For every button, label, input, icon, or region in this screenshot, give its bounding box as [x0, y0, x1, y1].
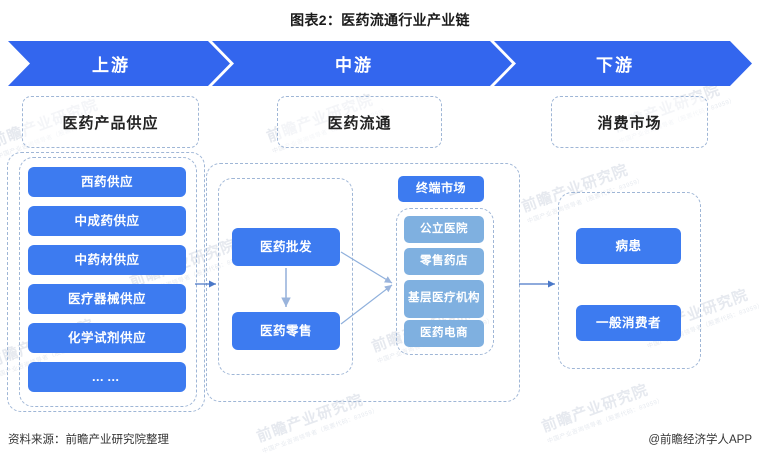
midstream-node-wholesale[interactable]: 医药批发 [232, 228, 340, 266]
upstream-node-medical-devices[interactable]: 医疗器械供应 [28, 284, 186, 314]
downstream-node-general-consumers[interactable]: 一般消费者 [576, 305, 681, 341]
downstream-group [558, 192, 701, 369]
banner-segment-label: 上游 [92, 51, 130, 76]
banner-segment-label: 下游 [596, 51, 634, 76]
section-header-midstream: 医药流通 [277, 96, 442, 148]
upstream-node-chemical-reagents[interactable]: 化学试剂供应 [28, 323, 186, 353]
attribution-note: @前瞻经济学人APP [648, 431, 752, 447]
upstream-node-chinese-herbal-medicine[interactable]: 中药材供应 [28, 245, 186, 275]
watermark: 前瞻产业研究院中国产业咨询领导者（股票代码：83959） [539, 375, 665, 445]
banner-segment-label: 中游 [335, 51, 373, 76]
terminal-node-pharma-ecommerce[interactable]: 医药电商 [404, 320, 484, 347]
terminal-node-retail-pharmacy[interactable]: 零售药店 [404, 248, 484, 275]
upstream-node-western-medicine[interactable]: 西药供应 [28, 167, 186, 197]
downstream-node-patients[interactable]: 病患 [576, 228, 681, 264]
terminal-node-public-hospital[interactable]: 公立医院 [404, 216, 484, 243]
value-chain-banner: 上游 中游 下游 [8, 41, 752, 86]
banner-segment-upstream[interactable]: 上游 [8, 41, 230, 86]
midstream-node-retail[interactable]: 医药零售 [232, 312, 340, 350]
upstream-node-chinese-patent-medicine[interactable]: 中成药供应 [28, 206, 186, 236]
source-note: 资料来源：前瞻产业研究院整理 [8, 431, 169, 447]
banner-segment-downstream[interactable]: 下游 [494, 41, 752, 86]
section-header-upstream: 医药产品供应 [22, 96, 199, 148]
terminal-market-header[interactable]: 终端市场 [398, 176, 484, 202]
section-header-downstream: 消费市场 [551, 96, 708, 148]
upstream-node-ellipsis[interactable]: …… [28, 362, 186, 392]
banner-segment-midstream[interactable]: 中游 [212, 41, 512, 86]
page-title: 图表2：医药流通行业产业链 [0, 10, 760, 30]
terminal-node-primary-care-institution[interactable]: 基层医疗机构 [404, 280, 484, 318]
